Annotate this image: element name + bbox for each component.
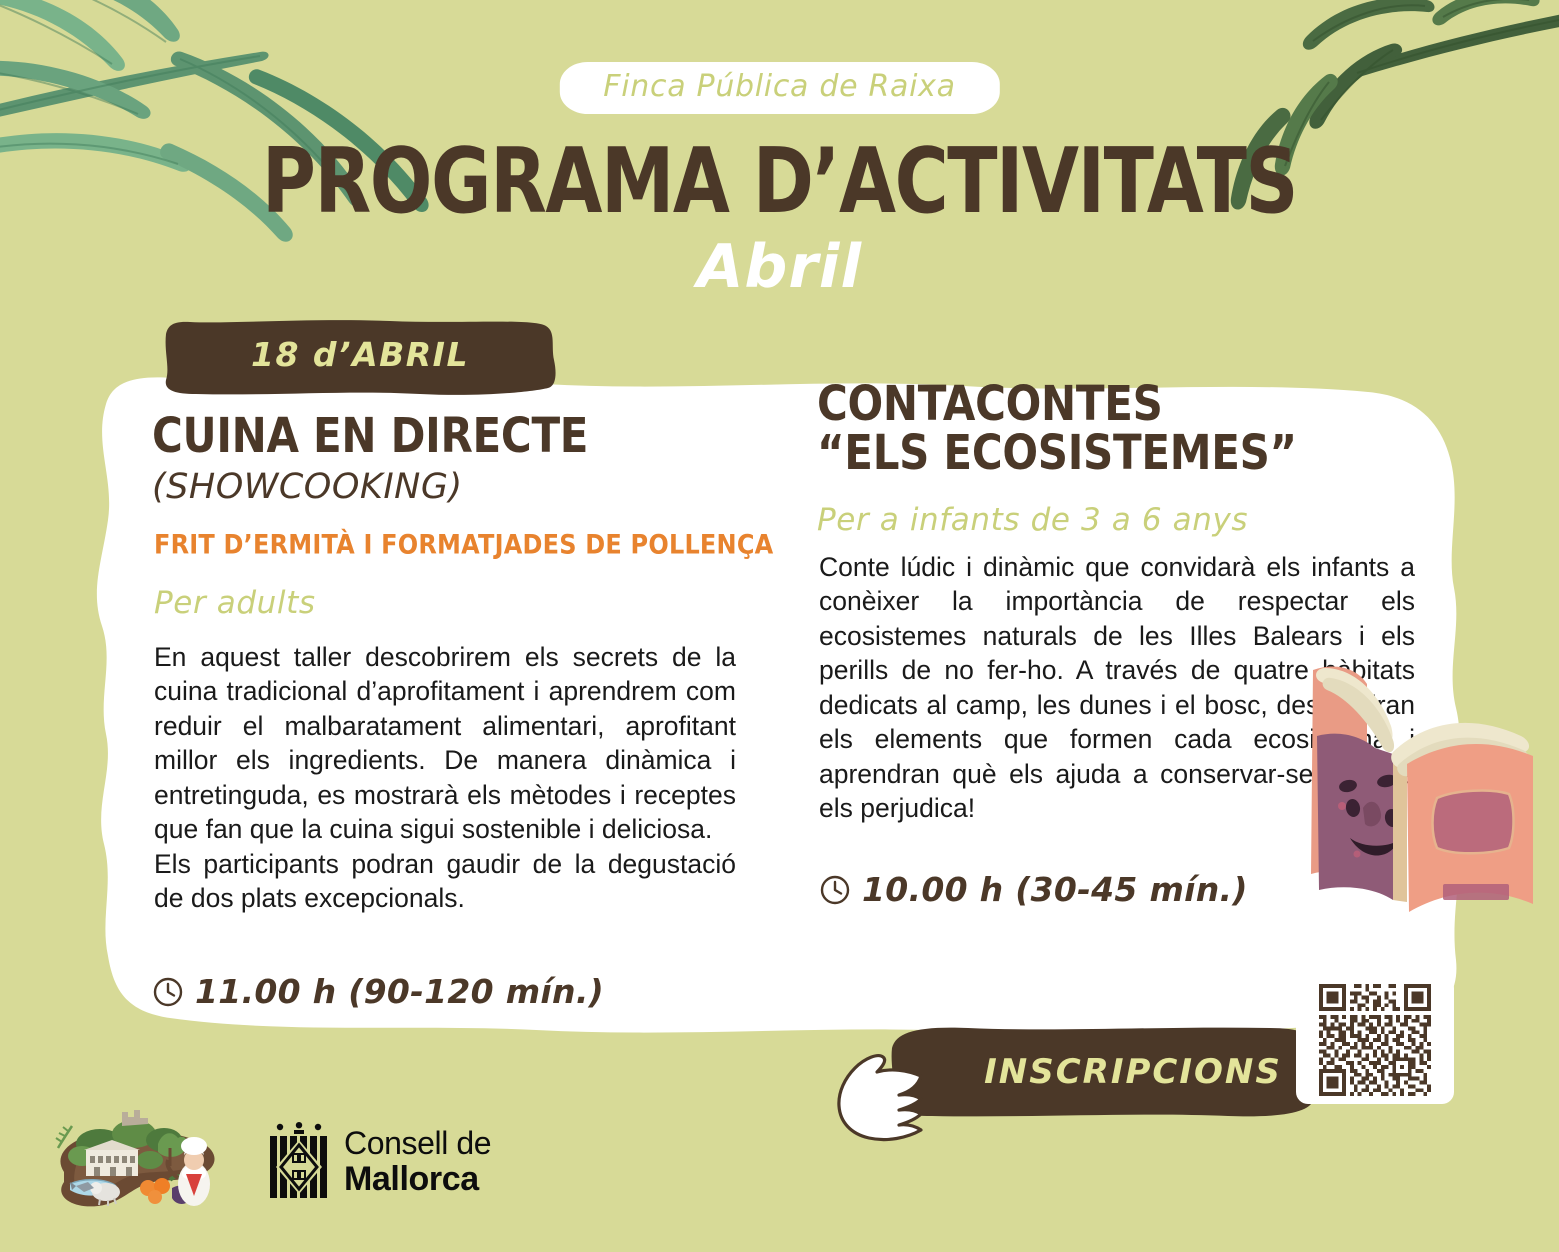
activity-menu-cuina: FRIT D’ERMITÀ I FORMATJADES DE POLLENÇA: [154, 529, 773, 560]
activity-description-contacontes: Conte lúdic i dinàmic que convidarà els …: [819, 550, 1415, 826]
activity-description-cuina: En aquest taller descobrirem els secrets…: [154, 640, 736, 916]
date-badge: 18 d’ABRIL: [160, 318, 560, 396]
consell-de-mallorca-wordmark: Consell de Mallorca: [344, 1127, 491, 1196]
activity-time-label-cuina: 11.00 h (90-120 mín.): [195, 972, 604, 1011]
activity-time-cuina: 11.00 h (90-120 mín.): [152, 972, 604, 1011]
poster-canvas: Finca Pública de Raixa PROGRAMA D’ACTIVI…: [0, 0, 1559, 1252]
page-title: PROGRAMA D’ACTIVITATS: [23, 128, 1535, 233]
consell-line-2: Mallorca: [344, 1162, 491, 1196]
card-content: CUINA EN DIRECTE (SHOWCOOKING) FRIT D’ER…: [84, 352, 1475, 1058]
clock-icon: [152, 976, 184, 1008]
consell-line-1: Consell de: [344, 1127, 491, 1159]
activity-time-label-contacontes: 10.00 h (30-45 mín.): [862, 870, 1248, 909]
venue-name: Finca Pública de Raixa: [603, 69, 955, 104]
consell-de-mallorca-shield-icon: [268, 1122, 330, 1200]
inscriptions-label: INSCRIPCIONS: [888, 1026, 1318, 1118]
activity-time-contacontes: 10.00 h (30-45 mín.): [819, 870, 1248, 909]
month-subtitle: Abril: [0, 232, 1559, 302]
activity-subtitle-cuina: (SHOWCOOKING): [152, 467, 463, 507]
pointing-hand-icon: [833, 1052, 929, 1144]
venue-pill: Finca Pública de Raixa: [559, 62, 999, 114]
clock-icon: [819, 874, 851, 906]
activity-audience-contacontes: Per a infants de 3 a 6 anys: [817, 502, 1248, 538]
activity-title-line1: CONTACONTES: [817, 380, 1297, 429]
consell-de-mallorca-logo: Consell de Mallorca: [268, 1122, 491, 1200]
finca-raixa-illustration-logo: [42, 1104, 224, 1230]
qr-code[interactable]: [1296, 976, 1454, 1104]
date-badge-label: 18 d’ABRIL: [160, 318, 560, 396]
activity-title-cuina: CUINA EN DIRECTE: [152, 412, 588, 461]
inscriptions-cta[interactable]: INSCRIPCIONS: [888, 1026, 1318, 1118]
activity-title-contacontes: CONTACONTES “ELS ECOSISTEMES”: [817, 380, 1297, 478]
activity-audience-cuina: Per adults: [154, 585, 316, 621]
activity-title-line2: “ELS ECOSISTEMES”: [817, 429, 1297, 478]
